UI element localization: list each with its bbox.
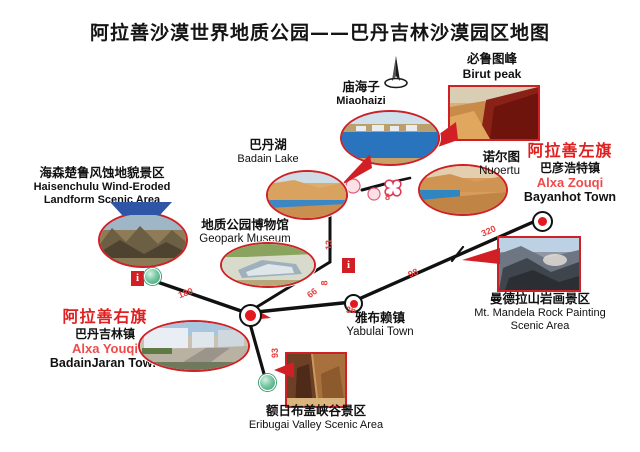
haisenchulu-en-1: Haisenchulu Wind-Eroded: [22, 181, 182, 194]
distance-label-13: 13: [324, 240, 334, 250]
node-bayanhot[interactable]: [532, 211, 553, 232]
node-haisenchulu[interactable]: [144, 268, 161, 285]
callout-haisenchulu: [110, 202, 172, 216]
map-canvas: 阿拉善沙漠世界地质公园——巴丹吉林沙漠园区地图: [0, 0, 640, 452]
label-badain-lake: 巴丹湖 Badain Lake: [220, 138, 316, 166]
label-eribugai: 额日布盖峡谷景区 Eribugai Valley Scenic Area: [216, 404, 416, 432]
distance-label-8b: 8: [385, 192, 390, 202]
photo-alxa-youqi[interactable]: [138, 320, 250, 372]
miaohaizi-en: Miaohaizi: [316, 95, 406, 108]
callout-mandela: [460, 242, 502, 272]
mandela-en-2: Scenic Area: [452, 320, 628, 333]
mandela-cn: 曼德拉山岩画景区: [452, 292, 628, 307]
birut-peak-cn: 必鲁图峰: [432, 52, 552, 67]
info-marker-haisenchulu[interactable]: i: [131, 271, 144, 286]
birut-peak-en: Birut peak: [432, 67, 552, 81]
geopark-museum-cn: 地质公园博物馆: [180, 218, 310, 233]
haisenchulu-cn: 海森楚鲁风蚀地貌景区: [22, 166, 182, 181]
eribugai-en: Eribugai Valley Scenic Area: [216, 419, 416, 432]
photo-geopark-museum[interactable]: [220, 242, 316, 288]
label-birut-peak: 必鲁图峰 Birut peak: [432, 52, 552, 81]
alxa-zouqi-en: Alxa Zouqi: [504, 175, 636, 190]
label-geopark-museum: 地质公园博物馆 Geopark Museum: [180, 218, 310, 246]
alxa-zouqi-town-cn: 巴彦浩特镇: [504, 161, 636, 175]
alxa-zouqi-town-en: Bayanhot Town: [504, 190, 636, 205]
mandela-en-1: Mt. Mandela Rock Painting: [452, 307, 628, 320]
yabulai-en: Yabulai Town: [322, 326, 438, 340]
badain-lake-cn: 巴丹湖: [220, 138, 316, 153]
node-alxa-youqi-hub[interactable]: [239, 304, 262, 327]
info-marker-museum[interactable]: i: [342, 258, 355, 273]
label-miaohaizi: 庙海子 Miaohaizi: [316, 80, 406, 108]
distance-label-8: 8: [320, 280, 330, 285]
callout-eribugai: [272, 358, 298, 384]
photo-haisenchulu[interactable]: [98, 212, 188, 268]
badain-lake-en: Badain Lake: [220, 153, 316, 166]
label-mandela: 曼德拉山岩画景区 Mt. Mandela Rock Painting Sceni…: [452, 292, 628, 333]
distance-label-36: 36: [346, 305, 356, 315]
label-yabulai: 雅布赖镇 Yabulai Town: [322, 311, 438, 339]
label-alxa-zouqi: 阿拉善左旗 巴彦浩特镇 Alxa Zouqi Bayanhot Town: [504, 142, 636, 205]
miaohaizi-cn: 庙海子: [316, 80, 406, 95]
yabulai-cn: 雅布赖镇: [322, 311, 438, 326]
eribugai-cn: 额日布盖峡谷景区: [216, 404, 416, 419]
photo-mandela[interactable]: [497, 236, 581, 292]
alxa-zouqi-cn: 阿拉善左旗: [504, 142, 636, 161]
distance-label-93: 93: [270, 348, 280, 358]
label-haisenchulu: 海森楚鲁风蚀地貌景区 Haisenchulu Wind-Eroded Landf…: [22, 166, 182, 207]
photo-birut-peak[interactable]: [448, 85, 540, 141]
photo-badain-lake[interactable]: [266, 170, 348, 220]
